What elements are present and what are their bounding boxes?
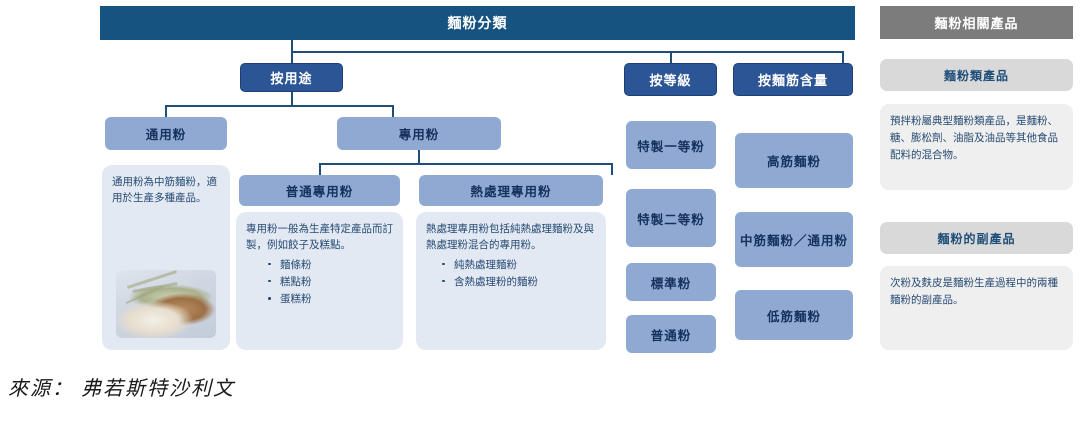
connector-to-grade (670, 51, 672, 63)
related-section-label-flour-products: 麵粉類產品 (944, 67, 1009, 84)
desc-general-flour-text: 通用粉為中筋麵粉，適用於生產多種產品。 (112, 174, 220, 207)
list-item: 蛋糕粉 (268, 291, 393, 307)
connector-to-heat-treated (611, 163, 613, 175)
node-general-flour-label: 通用粉 (146, 124, 187, 143)
flour-classification-diagram: 麵粉分類 按用途 按等級 按麵筋含量 通用粉 通用粉為中筋麵粉，適用於生產多種產… (0, 0, 1080, 424)
list-item: 麵條粉 (268, 257, 393, 273)
node-ordinary-special-flour[interactable]: 普通專用粉 (239, 175, 400, 206)
source-note: 來源： 弗若斯特沙利文 (8, 372, 235, 401)
desc-heat-treated-flour-text: 熱處理專用粉包括純熱處理麵粉及與熱處理粉混合的專用粉。 (426, 221, 596, 254)
desc-general-flour: 通用粉為中筋麵粉，適用於生產多種產品。 (102, 165, 230, 350)
node-special-flour-label: 專用粉 (399, 124, 440, 143)
node-heat-treated-flour-label: 熱處理專用粉 (470, 181, 551, 200)
related-desc-flour-products: 預拌粉屬典型麵粉類產品，是麵粉、糖、膨松劑、油脂及油品等其他食品配料的混合物。 (880, 104, 1073, 190)
related-products-header-label: 麵粉相關產品 (934, 13, 1018, 32)
node-grade-4-label: 普通粉 (651, 325, 692, 344)
node-special-flour[interactable]: 專用粉 (337, 117, 501, 150)
desc-heat-treated-flour: 熱處理專用粉包括純熱處理麵粉及與熱處理粉混合的專用粉。 純熱處理麵粉 含熱處理粉… (416, 212, 606, 350)
category-label-grade: 按等級 (649, 70, 691, 89)
desc-ordinary-special-flour-text: 專用粉一般為生產特定產品而訂製，例如餃子及糕點。 (246, 221, 393, 254)
bullets-ordinary-special-flour: 麵條粉 糕點粉 蛋糕粉 (246, 257, 393, 308)
node-gluten-medium-label: 中筋麵粉／通用粉 (740, 230, 848, 249)
connector-special-bus (319, 163, 612, 165)
node-gluten-high-label: 高筋麵粉 (767, 151, 821, 170)
category-label-usage: 按用途 (270, 68, 312, 87)
related-section-header-flour-products[interactable]: 麵粉類產品 (880, 59, 1073, 91)
node-general-flour[interactable]: 通用粉 (105, 117, 227, 150)
category-box-grade[interactable]: 按等級 (624, 63, 717, 96)
diagram-title: 麵粉分類 (448, 13, 508, 33)
connector-title-bus (291, 51, 843, 53)
node-heat-treated-flour[interactable]: 熱處理專用粉 (419, 175, 603, 206)
node-grade-2[interactable]: 特製二等粉 (626, 189, 716, 247)
node-gluten-medium[interactable]: 中筋麵粉／通用粉 (735, 212, 853, 267)
list-item: 含熱處理粉的麵粉 (442, 274, 596, 290)
node-gluten-low[interactable]: 低筋麵粉 (735, 290, 853, 340)
node-ordinary-special-flour-label: 普通專用粉 (286, 181, 354, 200)
connector-usage-down (291, 92, 293, 106)
related-desc-byproducts-text: 次粉及麩皮是麵粉生產過程中的兩種麵粉的副產品。 (890, 277, 1058, 306)
node-grade-2-label: 特製二等粉 (637, 209, 705, 228)
wheat-flour-photo (116, 270, 216, 338)
related-products-header: 麵粉相關產品 (880, 6, 1073, 39)
category-box-gluten[interactable]: 按麵筋含量 (733, 63, 853, 96)
node-grade-3-label: 標準粉 (651, 273, 692, 292)
category-label-gluten: 按麵筋含量 (758, 70, 828, 89)
list-item: 純熱處理麵粉 (442, 257, 596, 273)
related-desc-byproducts: 次粉及麩皮是麵粉生產過程中的兩種麵粉的副產品。 (880, 266, 1073, 350)
diagram-title-bar: 麵粉分類 (100, 6, 855, 40)
connector-to-usage (291, 51, 293, 63)
connector-usage-bus (165, 105, 393, 107)
connector-special-down (418, 150, 420, 164)
node-grade-1[interactable]: 特製一等粉 (626, 121, 716, 169)
list-item: 糕點粉 (268, 274, 393, 290)
node-grade-1-label: 特製一等粉 (637, 136, 705, 155)
connector-to-gluten (842, 51, 844, 63)
category-box-usage[interactable]: 按用途 (240, 63, 343, 92)
bullets-heat-treated-flour: 純熱處理麵粉 含熱處理粉的麵粉 (426, 257, 596, 291)
node-grade-4[interactable]: 普通粉 (626, 315, 716, 353)
connector-to-special (392, 105, 394, 117)
desc-ordinary-special-flour: 專用粉一般為生產特定產品而訂製，例如餃子及糕點。 麵條粉 糕點粉 蛋糕粉 (236, 212, 403, 350)
connector-to-ordinary-special (319, 163, 321, 175)
related-section-label-byproducts: 麵粉的副產品 (937, 230, 1015, 247)
related-desc-flour-products-text: 預拌粉屬典型麵粉類產品，是麵粉、糖、膨松劑、油脂及油品等其他食品配料的混合物。 (890, 115, 1058, 161)
node-gluten-high[interactable]: 高筋麵粉 (735, 133, 853, 188)
node-gluten-low-label: 低筋麵粉 (767, 306, 821, 325)
related-section-header-byproducts[interactable]: 麵粉的副產品 (880, 222, 1073, 254)
connector-to-general (165, 105, 167, 117)
node-grade-3[interactable]: 標準粉 (626, 263, 716, 301)
